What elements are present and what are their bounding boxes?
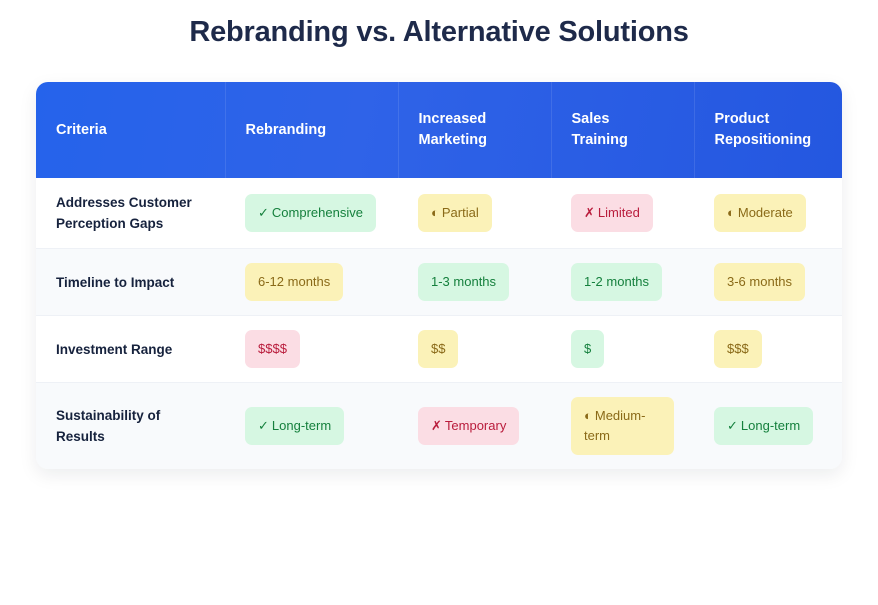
value-cell: 6-12 months <box>225 249 398 316</box>
status-badge: 6-12 months <box>245 263 343 301</box>
badge-label: $$$ <box>727 341 749 356</box>
table-row: Addresses Customer Perception Gaps ✓Comp… <box>36 178 842 249</box>
check-icon: ✓ <box>727 418 738 433</box>
status-badge: ✗Limited <box>571 194 653 232</box>
criteria-label: Addresses Customer Perception Gaps <box>56 192 205 234</box>
badge-label: 1-3 months <box>431 274 496 289</box>
status-badge: ✓Long-term <box>245 407 344 445</box>
table-header: Criteria Rebranding Increased Marketing … <box>36 82 842 178</box>
header-line-1: Rebranding <box>246 122 327 138</box>
half-circle-icon: ◐ <box>727 205 735 220</box>
badge-label: Partial <box>442 205 479 220</box>
value-cell: $$ <box>398 316 551 383</box>
criteria-cell: Sustainability of Results <box>36 383 225 470</box>
badge-label: Moderate <box>738 205 793 220</box>
status-badge: ◐Moderate <box>714 194 806 232</box>
check-icon: ✓ <box>258 418 269 433</box>
criteria-label: Investment Range <box>56 339 205 360</box>
column-header-rebranding: Rebranding <box>225 82 398 178</box>
status-badge: $$$ <box>714 330 762 368</box>
header-line-1: Increased <box>419 111 487 127</box>
page-title: Rebranding vs. Alternative Solutions <box>0 0 878 49</box>
criteria-label: Timeline to Impact <box>56 272 205 293</box>
half-circle-icon: ◐ <box>584 408 592 423</box>
badge-label: Comprehensive <box>272 205 363 220</box>
status-badge: 1-2 months <box>571 263 662 301</box>
value-cell: ◐Partial <box>398 178 551 249</box>
half-circle-icon: ◐ <box>431 205 439 220</box>
value-cell: ◐Moderate <box>694 178 842 249</box>
badge-label: $$$$ <box>258 341 287 356</box>
badge-label: 1-2 months <box>584 274 649 289</box>
column-header-criteria: Criteria <box>36 82 225 178</box>
table-row: Sustainability of Results ✓Long-term ✗Te… <box>36 383 842 470</box>
comparison-table-container: Criteria Rebranding Increased Marketing … <box>36 82 842 469</box>
value-cell: ✗Temporary <box>398 383 551 470</box>
badge-label: 6-12 months <box>258 274 330 289</box>
header-line-1: Product <box>715 111 770 127</box>
check-icon: ✓ <box>258 205 269 220</box>
value-cell: ✓Long-term <box>225 383 398 470</box>
table-row: Timeline to Impact 6-12 months 1-3 month… <box>36 249 842 316</box>
header-line-1: Sales <box>572 111 610 127</box>
status-badge: ✓Long-term <box>714 407 813 445</box>
value-cell: $$$ <box>694 316 842 383</box>
badge-label: Medium-term <box>584 408 645 443</box>
table-row: Investment Range $$$$ $$ $ <box>36 316 842 383</box>
column-header-product-repositioning: Product Repositioning <box>694 82 842 178</box>
criteria-cell: Investment Range <box>36 316 225 383</box>
value-cell: 1-2 months <box>551 249 694 316</box>
criteria-cell: Addresses Customer Perception Gaps <box>36 178 225 249</box>
value-cell: ✓Long-term <box>694 383 842 470</box>
value-cell: ◐Medium-term <box>551 383 694 470</box>
badge-label: $ <box>584 341 591 356</box>
comparison-table: Criteria Rebranding Increased Marketing … <box>36 82 842 469</box>
value-cell: 1-3 months <box>398 249 551 316</box>
badge-label: Temporary <box>445 418 506 433</box>
header-line-2: Marketing <box>419 130 531 151</box>
status-badge: $$ <box>418 330 458 368</box>
column-header-increased-marketing: Increased Marketing <box>398 82 551 178</box>
value-cell: ✗Limited <box>551 178 694 249</box>
header-line-1: Criteria <box>56 122 107 138</box>
column-header-sales-training: Sales Training <box>551 82 694 178</box>
status-badge: ✓Comprehensive <box>245 194 376 232</box>
header-line-2: Training <box>572 130 674 151</box>
criteria-label: Sustainability of Results <box>56 405 205 447</box>
badge-label: Long-term <box>272 418 331 433</box>
status-badge: $ <box>571 330 604 368</box>
badge-label: Limited <box>598 205 640 220</box>
header-line-2: Repositioning <box>715 130 823 151</box>
badge-label: 3-6 months <box>727 274 792 289</box>
cross-icon: ✗ <box>431 418 442 433</box>
header-row: Criteria Rebranding Increased Marketing … <box>36 82 842 178</box>
badge-label: Long-term <box>741 418 800 433</box>
value-cell: 3-6 months <box>694 249 842 316</box>
comparison-page: Rebranding vs. Alternative Solutions Cri… <box>0 0 878 605</box>
status-badge: ◐Medium-term <box>571 397 674 455</box>
value-cell: $ <box>551 316 694 383</box>
status-badge: ✗Temporary <box>418 407 519 445</box>
table-body: Addresses Customer Perception Gaps ✓Comp… <box>36 178 842 469</box>
status-badge: 1-3 months <box>418 263 509 301</box>
badge-label: $$ <box>431 341 445 356</box>
status-badge: $$$$ <box>245 330 300 368</box>
value-cell: $$$$ <box>225 316 398 383</box>
cross-icon: ✗ <box>584 205 595 220</box>
status-badge: 3-6 months <box>714 263 805 301</box>
status-badge: ◐Partial <box>418 194 492 232</box>
value-cell: ✓Comprehensive <box>225 178 398 249</box>
criteria-cell: Timeline to Impact <box>36 249 225 316</box>
